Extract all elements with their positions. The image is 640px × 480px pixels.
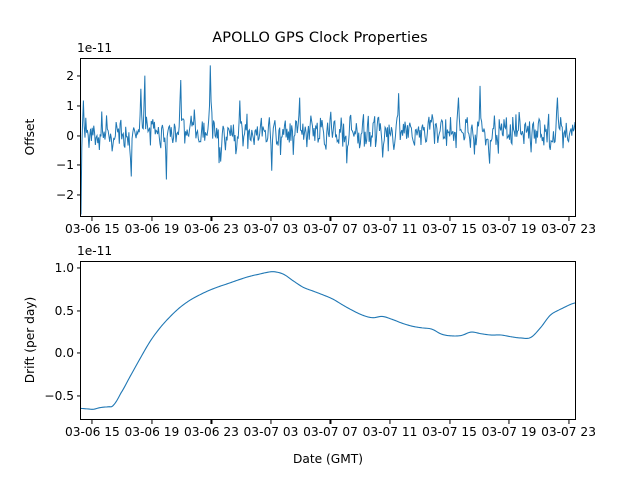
x-tick-label: 03-07 07 [303,222,358,236]
y-tick-label: −0.5 [44,389,74,403]
x-tick-label: 03-07 03 [244,425,299,439]
y-tick-label: 0 [66,129,74,143]
matplotlib-figure: APOLLO GPS Clock Properties 1e-11 Offset… [0,0,640,480]
x-tick-mark [151,420,152,424]
y-tick-label: 0.0 [55,346,74,360]
drift-x-axis-label: Date (GMT) [80,452,576,466]
x-tick-label: 03-07 11 [363,222,418,236]
x-tick-label: 03-07 11 [363,425,418,439]
y-tick-mark [77,76,81,77]
y-tick-mark [77,165,81,166]
x-tick-label: 03-07 15 [422,222,477,236]
x-tick-label: 03-07 07 [303,425,358,439]
x-tick-mark [151,217,152,221]
drift-plot-area [80,261,576,420]
y-tick-mark [77,396,81,397]
x-tick-mark [389,217,390,221]
x-tick-mark [508,420,509,424]
y-tick-mark [77,105,81,106]
drift-line [81,272,575,410]
x-tick-label: 03-06 15 [65,222,120,236]
y-tick-mark [77,135,81,136]
x-tick-label: 03-06 19 [125,425,180,439]
y-tick-label: 0.5 [55,304,74,318]
x-tick-mark [92,217,93,221]
y-tick-label: 1 [66,99,74,113]
x-tick-label: 03-07 23 [541,222,596,236]
x-tick-mark [568,217,569,221]
x-tick-mark [389,420,390,424]
x-tick-mark [92,420,93,424]
y-tick-label: −2 [56,188,74,202]
x-tick-mark [270,420,271,424]
x-tick-mark [211,217,212,221]
x-tick-mark [449,217,450,221]
drift-y-exponent-label: 1e-11 [77,244,112,258]
drift-series-canvas [81,262,575,419]
y-tick-label: 2 [66,69,74,83]
x-tick-mark [508,217,509,221]
x-tick-label: 03-06 19 [125,222,180,236]
x-tick-label: 03-06 23 [184,425,239,439]
x-tick-label: 03-06 23 [184,222,239,236]
y-tick-mark [77,353,81,354]
y-tick-mark [77,310,81,311]
drift-y-axis-label: Drift (per day) [23,270,37,410]
offset-series-canvas [81,59,575,216]
x-tick-mark [568,420,569,424]
y-tick-label: −1 [56,158,74,172]
offset-y-exponent-label: 1e-11 [77,41,112,55]
x-tick-label: 03-07 23 [541,425,596,439]
x-tick-mark [330,217,331,221]
offset-line [81,65,575,214]
y-tick-label: 1.0 [55,261,74,275]
x-tick-label: 03-06 15 [65,425,120,439]
x-tick-mark [330,420,331,424]
x-tick-mark [449,420,450,424]
x-tick-label: 03-07 19 [482,425,537,439]
y-tick-mark [77,194,81,195]
x-tick-label: 03-07 03 [244,222,299,236]
offset-plot-area [80,58,576,217]
x-tick-mark [270,217,271,221]
y-tick-mark [77,267,81,268]
x-tick-label: 03-07 15 [422,425,477,439]
x-tick-label: 03-07 19 [482,222,537,236]
offset-y-axis-label: Offset [23,87,37,187]
x-tick-mark [211,420,212,424]
